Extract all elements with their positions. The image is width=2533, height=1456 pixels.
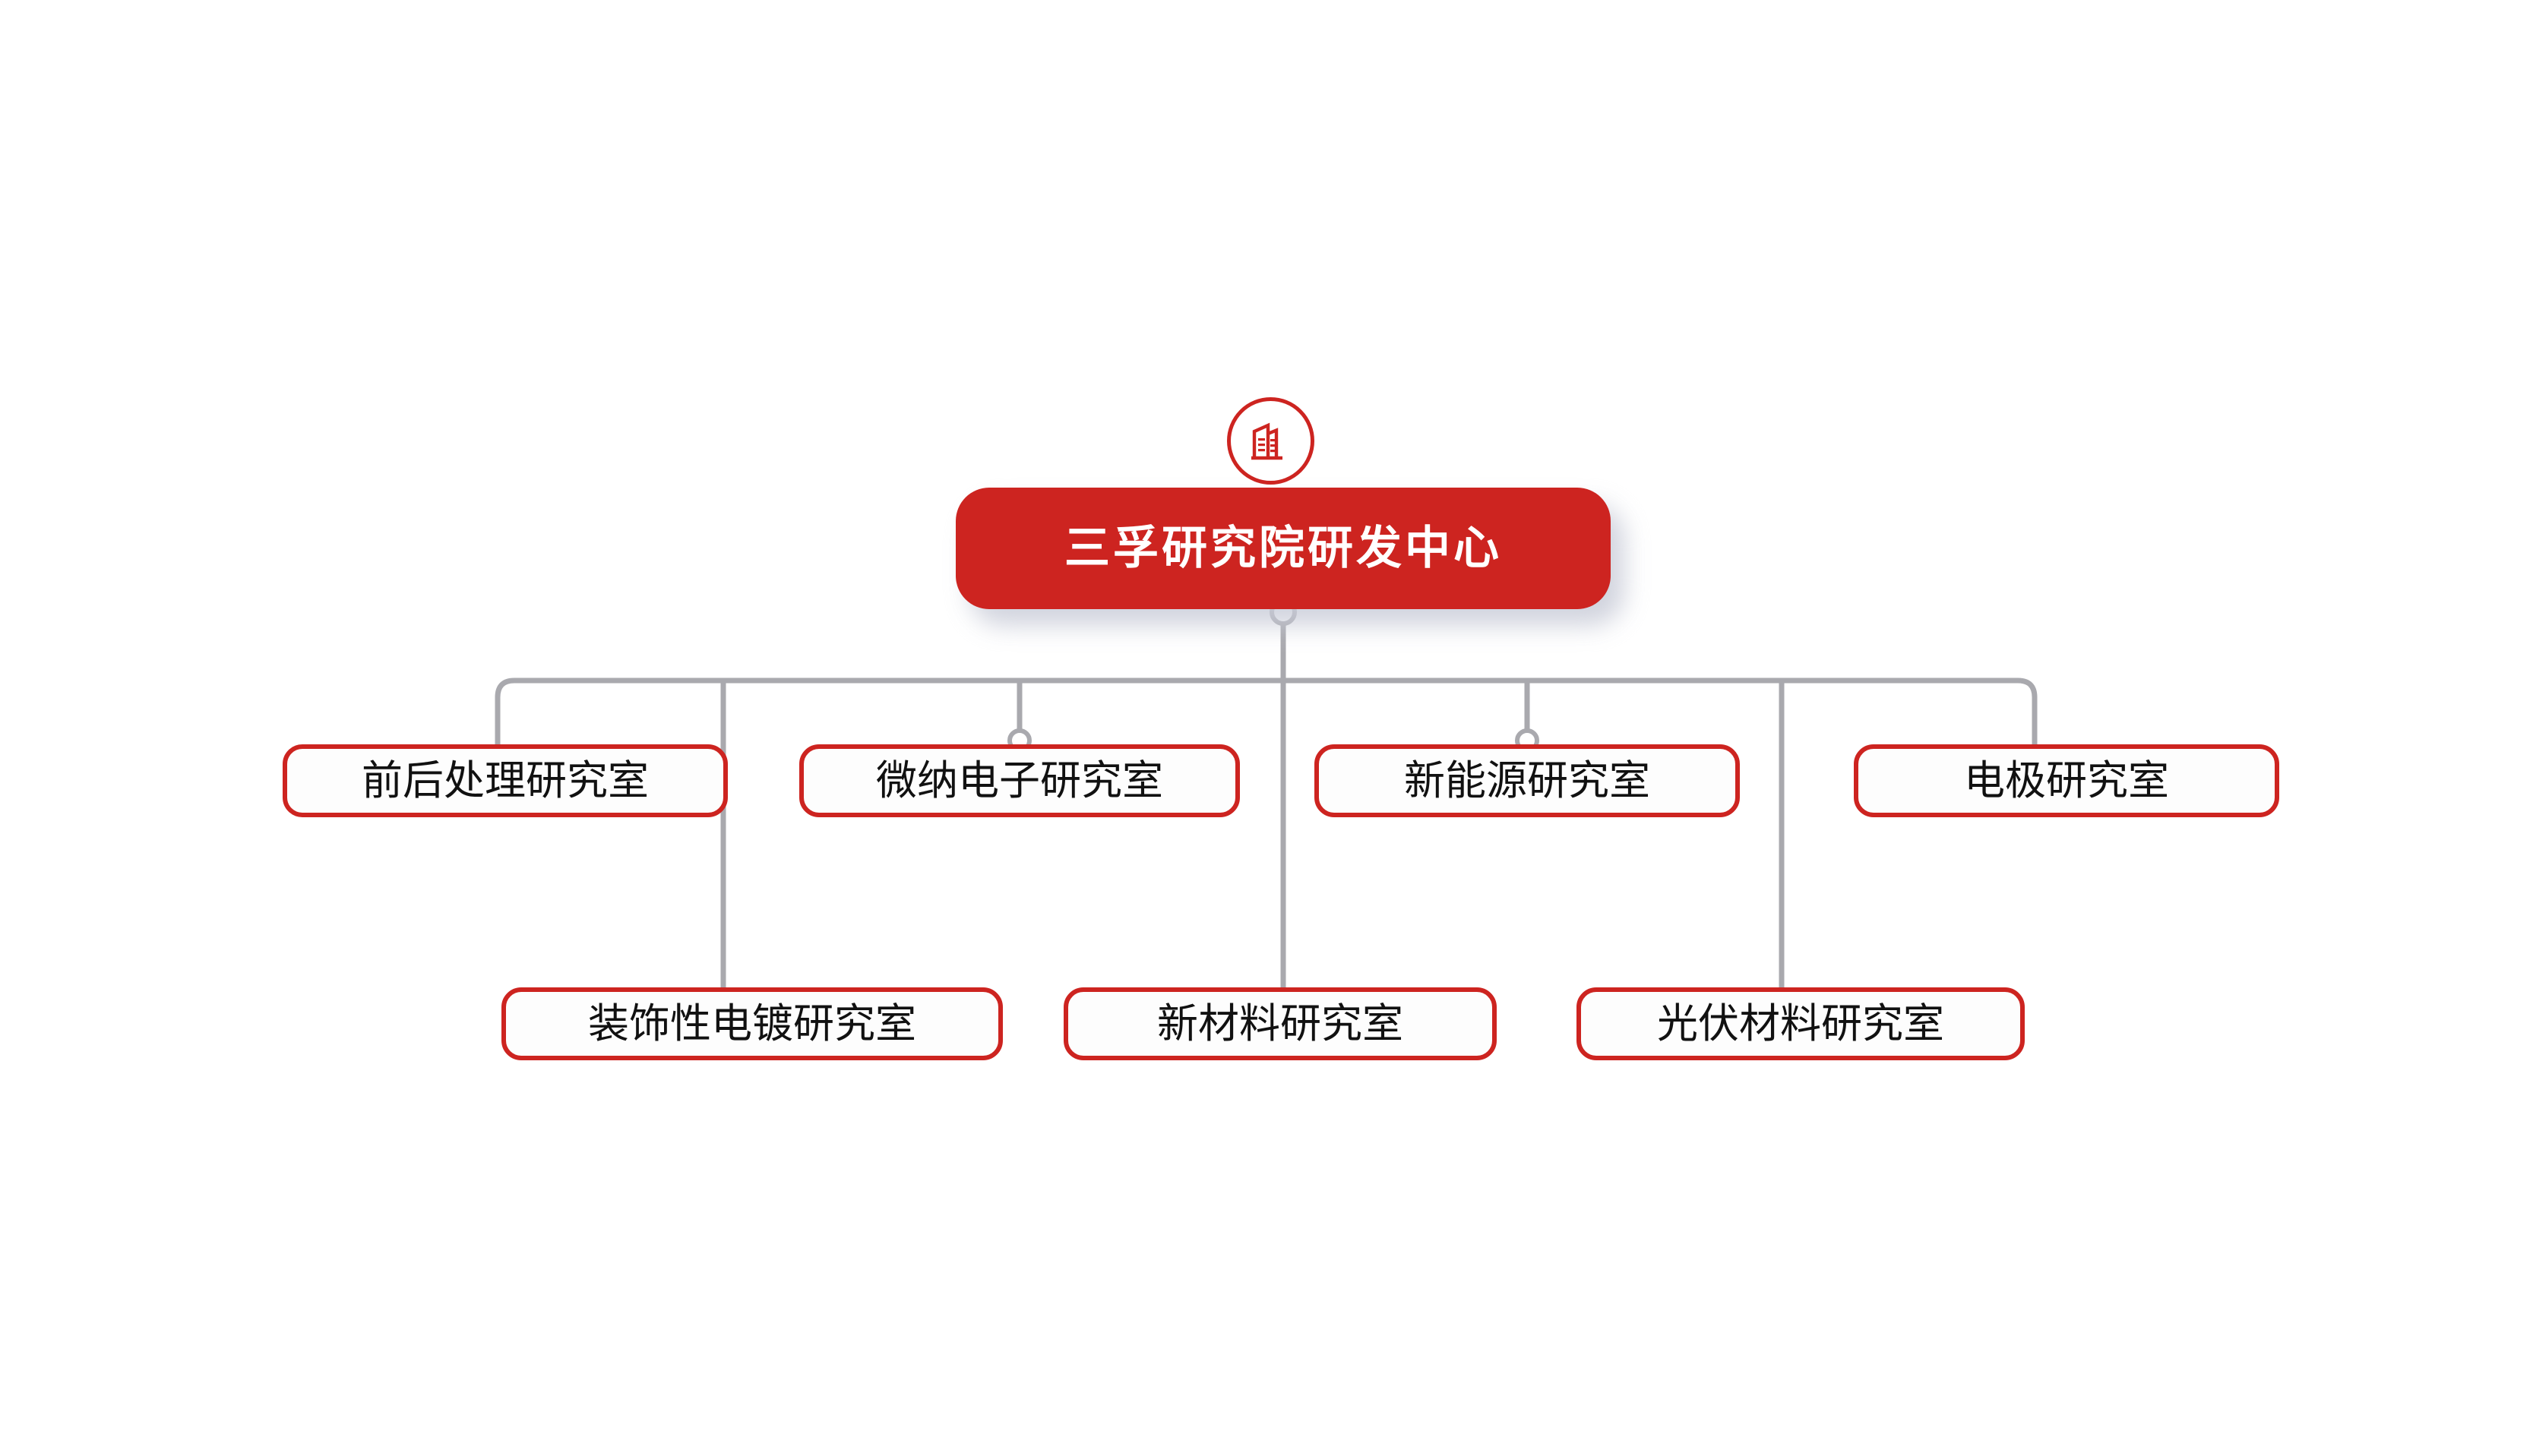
- org-chart-canvas: 三孚研究院研发中心: [0, 0, 2533, 1456]
- node-row1-1-label: 前后处理研究室: [362, 760, 649, 801]
- node-row2-2-label: 新材料研究室: [1157, 1003, 1403, 1044]
- root-node[interactable]: 三孚研究院研发中心: [956, 488, 1611, 609]
- node-row1-3[interactable]: 新能源研究室: [1314, 744, 1740, 817]
- node-row2-3-label: 光伏材料研究室: [1657, 1003, 1944, 1044]
- node-row1-4-label: 电极研究室: [1964, 760, 2169, 801]
- node-row2-2[interactable]: 新材料研究室: [1064, 987, 1497, 1060]
- root-badge: [1227, 397, 1314, 485]
- node-row1-4[interactable]: 电极研究室: [1854, 744, 2279, 817]
- root-node-box[interactable]: 三孚研究院研发中心: [956, 488, 1611, 609]
- node-row1-1[interactable]: 前后处理研究室: [283, 744, 728, 817]
- node-row2-1-label: 装饰性电镀研究室: [588, 1003, 916, 1044]
- building-icon: [1248, 418, 1294, 464]
- node-row1-3-label: 新能源研究室: [1404, 760, 1650, 801]
- node-row2-1[interactable]: 装饰性电镀研究室: [501, 987, 1003, 1060]
- node-row1-2-label: 微纳电子研究室: [876, 760, 1163, 801]
- node-row2-3[interactable]: 光伏材料研究室: [1576, 987, 2025, 1060]
- connector-lines: [0, 0, 2533, 1456]
- root-node-label: 三孚研究院研发中心: [1064, 526, 1502, 571]
- node-row1-2[interactable]: 微纳电子研究室: [799, 744, 1240, 817]
- connector-bus: [498, 681, 2035, 744]
